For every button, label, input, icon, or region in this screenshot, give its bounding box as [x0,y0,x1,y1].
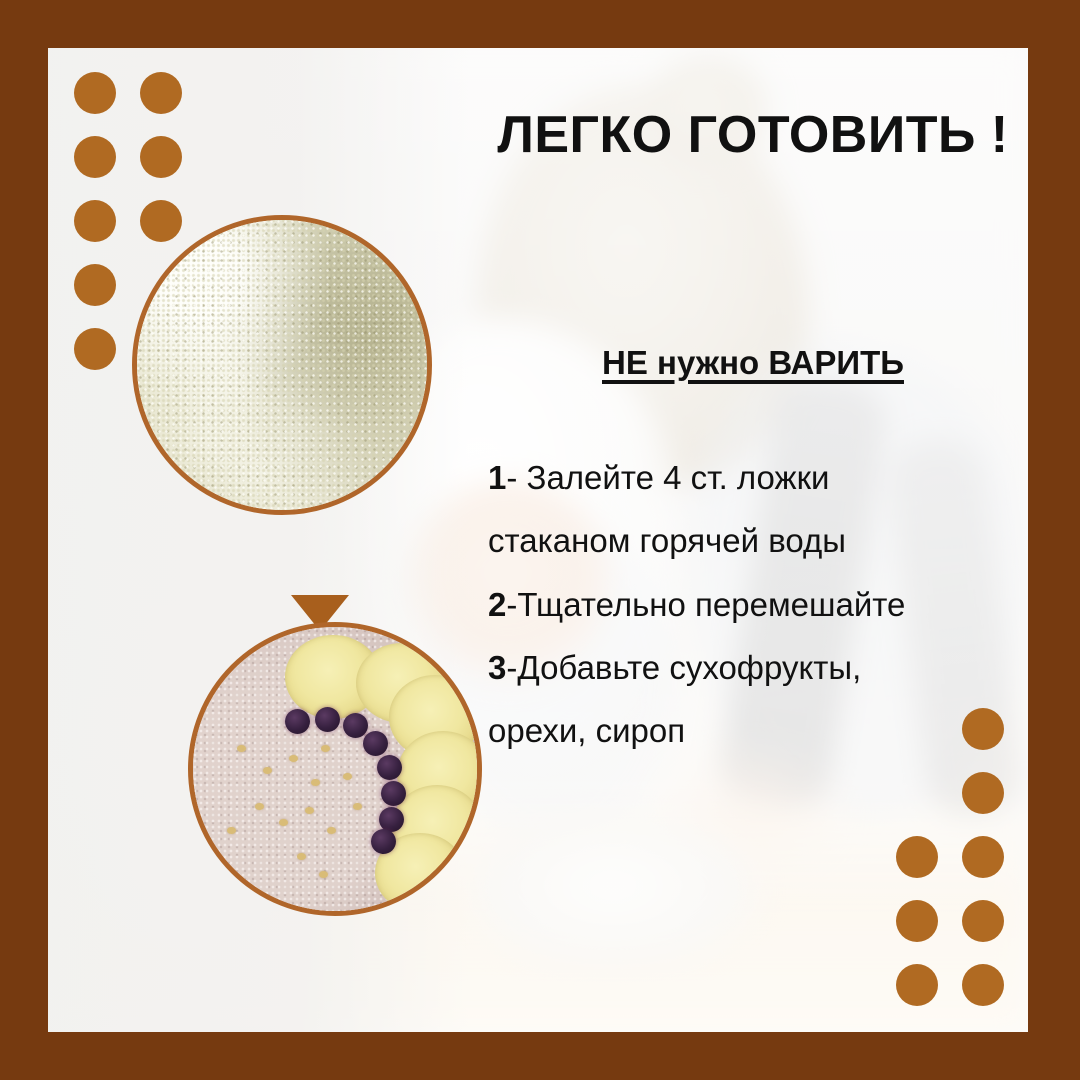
nut-crumb [343,773,352,780]
step-text: орехи, сироп [488,712,685,749]
nut-crumb [263,767,272,774]
dot [896,900,938,942]
dry-product-circle [132,215,432,515]
powder-texture [132,215,432,515]
dry-porridge-photo [137,220,427,510]
step-line: стаканом горячей воды [488,509,1028,572]
step-line: 2-Тщательно перемешайте [488,573,1028,636]
nut-crumb [255,803,264,810]
nut-crumb [353,803,362,810]
subtitle: НЕ нужно ВАРИТЬ [488,344,1018,382]
dot [962,900,1004,942]
dot [896,964,938,1006]
nut-crumb [227,827,236,834]
nut-crumb [297,853,306,860]
blueberry [315,707,340,732]
blueberry [377,755,402,780]
prepared-product-circle [188,622,482,916]
nut-crumb [289,755,298,762]
nut-crumb [321,745,330,752]
inner-panel: ЛЕГКО ГОТОВИТЬ ! НЕ нужно ВАРИТЬ 1- Зале… [48,48,1028,1032]
blueberry [381,781,406,806]
dot [74,72,116,114]
blueberry [285,709,310,734]
step-line: орехи, сироп [488,699,1028,762]
dot-placeholder [896,772,938,814]
step-number: 3 [488,649,506,686]
dot [962,836,1004,878]
nut-crumb [327,827,336,834]
step-line: 1- Залейте 4 ст. ложки [488,446,1028,509]
nut-crumb [319,871,328,878]
step-line: 3-Добавьте сухофрукты, [488,636,1028,699]
dot [140,136,182,178]
step-text: - Залейте 4 ст. ложки [506,459,829,496]
poster-canvas: ЛЕГКО ГОТОВИТЬ ! НЕ нужно ВАРИТЬ 1- Зале… [0,0,1080,1080]
step-text: стаканом горячей воды [488,522,846,559]
step-number: 1 [488,459,506,496]
dot [140,72,182,114]
page-title: ЛЕГКО ГОТОВИТЬ ! [488,108,1018,163]
dot [74,136,116,178]
blueberry [363,731,388,756]
nut-crumb [305,807,314,814]
step-text: -Тщательно перемешайте [506,586,905,623]
blueberry [371,829,396,854]
step-text: -Добавьте сухофрукты, [506,649,861,686]
dot [74,264,116,306]
dot [962,964,1004,1006]
nut-crumb [311,779,320,786]
prepared-porridge-photo [193,627,477,911]
step-number: 2 [488,586,506,623]
dot [74,328,116,370]
nut-crumb [237,745,246,752]
dot [896,836,938,878]
nut-crumb [279,819,288,826]
dot [962,772,1004,814]
dot [74,200,116,242]
blueberry [343,713,368,738]
steps-list: 1- Залейте 4 ст. ложки стаканом горячей … [488,446,1028,763]
